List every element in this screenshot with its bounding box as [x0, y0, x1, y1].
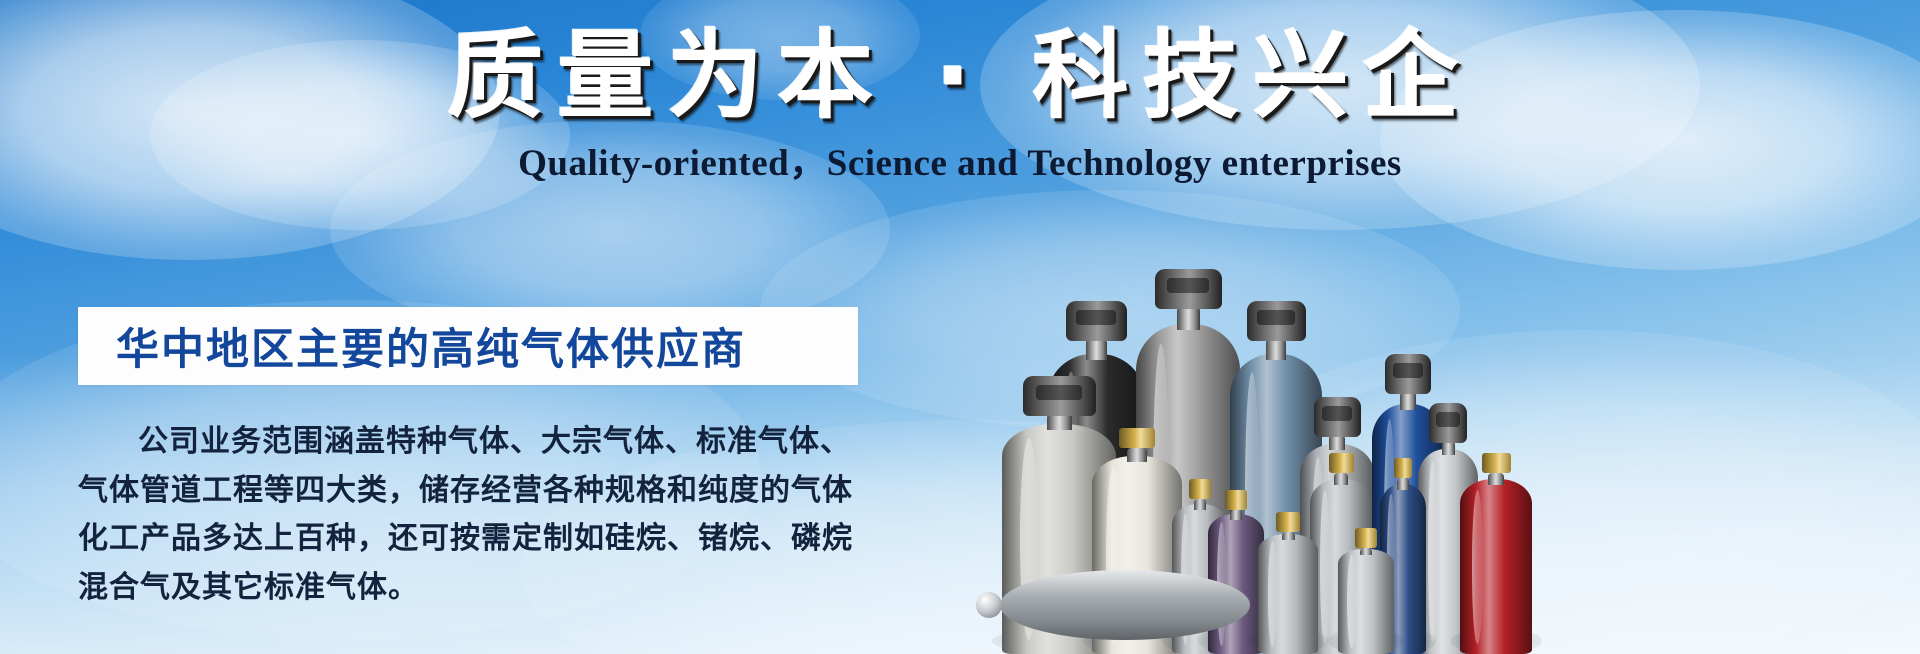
cylinder-valve — [1225, 490, 1247, 510]
cylinder-valve — [1394, 458, 1412, 478]
cylinder-neck — [1400, 392, 1416, 410]
cylinder-neck — [1442, 441, 1455, 455]
cylinder-valve — [1276, 512, 1300, 532]
horizontal-grey-tank — [1000, 570, 1250, 640]
cylinder-neck — [1127, 448, 1147, 462]
cylinder-valve-cap — [1429, 403, 1467, 443]
cylinder-neck — [1230, 510, 1242, 520]
banner-body-paragraph: 公司业务范围涵盖特种气体、大宗气体、标准气体、气体管道工程等四大类，储存经营各种… — [78, 418, 878, 612]
gas-cylinder-cluster — [940, 0, 1920, 654]
cylinder-neck — [1282, 532, 1295, 540]
cylinder-neck — [1488, 473, 1504, 485]
cylinder-valve-cap — [1066, 301, 1127, 341]
cylinder-neck — [1047, 414, 1072, 430]
cylinder-valve — [1189, 479, 1211, 499]
silver-front-cylinder-2 — [1338, 549, 1394, 654]
marketing-banner: 质量为本 · 科技兴企 Quality-oriented，Science and… — [0, 0, 1920, 654]
cylinder-valve — [1329, 453, 1354, 473]
cylinder-valve — [1355, 528, 1377, 548]
cylinder-neck — [1266, 339, 1286, 360]
cylinder-valve-cap — [1314, 397, 1361, 437]
cylinder-valve — [1119, 428, 1155, 448]
cylinder-valve-cap — [1155, 269, 1222, 309]
red-cylinder — [1460, 479, 1532, 654]
cylinder-neck — [1177, 307, 1200, 330]
cylinder-neck — [1086, 339, 1107, 360]
cylinder-valve-cap — [1247, 301, 1306, 341]
cylinder-valve — [1482, 453, 1511, 473]
cylinder-neck — [1329, 435, 1345, 450]
highlight-box-text: 华中地区主要的高纯气体供应商 — [116, 315, 746, 377]
cylinder-neck — [1397, 478, 1409, 490]
cylinder-neck — [1360, 548, 1372, 555]
cylinder-valve-cap — [1385, 354, 1431, 394]
cylinder-neck — [1334, 473, 1348, 485]
highlight-box: 华中地区主要的高纯气体供应商 — [78, 307, 858, 385]
silver-front-cylinder — [1258, 534, 1318, 654]
cylinder-valve-cap — [1023, 376, 1096, 416]
cylinder-neck — [1194, 499, 1206, 510]
tank-valve-knob — [976, 592, 1002, 618]
